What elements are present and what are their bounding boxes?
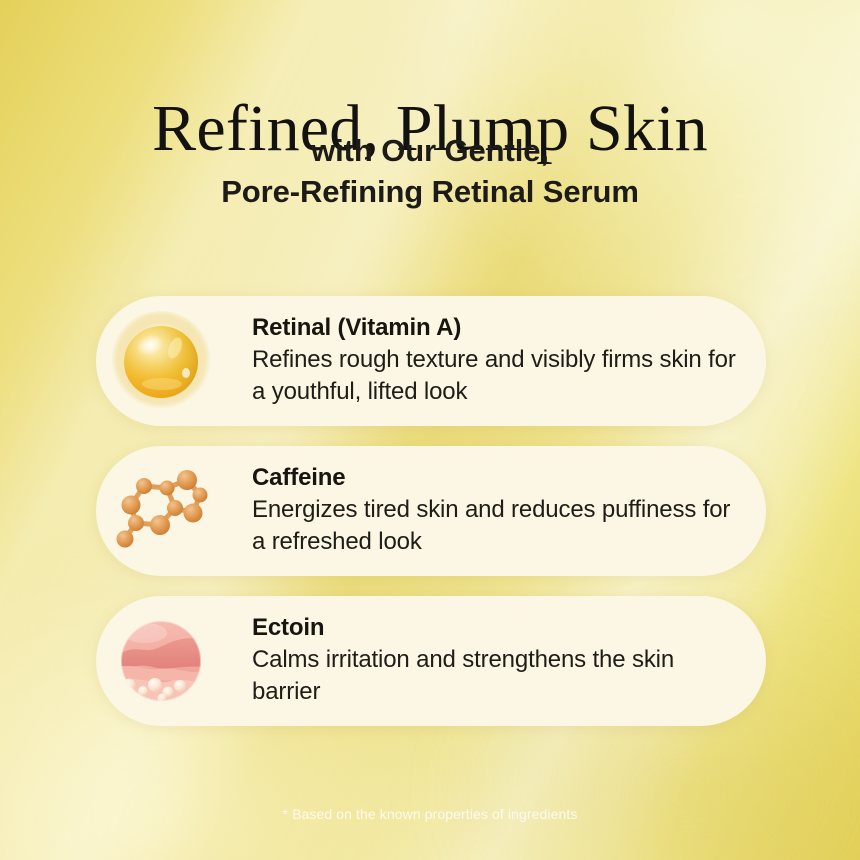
ingredient-card-text: Ectoin Calms irritation and strengthens … — [220, 613, 766, 709]
ingredient-description: Energizes tired skin and reduces puffine… — [252, 494, 740, 559]
pink-skin-texture-icon — [102, 602, 220, 720]
ingredient-title: Ectoin — [252, 613, 740, 642]
ingredient-card-list: Retinal (Vitamin A) Refines rough textur… — [96, 296, 766, 726]
ingredient-title: Caffeine — [252, 463, 740, 492]
golden-serum-droplet-icon — [102, 302, 220, 420]
poster-content: Refined, Plump Skin with Our Gentle, Por… — [0, 0, 860, 860]
page-subtitle-line-1: with Our Gentle, — [0, 130, 860, 171]
ingredient-card-text: Retinal (Vitamin A) Refines rough textur… — [220, 313, 766, 409]
ingredient-card-ectoin: Ectoin Calms irritation and strengthens … — [96, 596, 766, 726]
ingredient-card-retinal: Retinal (Vitamin A) Refines rough textur… — [96, 296, 766, 426]
ingredient-title: Retinal (Vitamin A) — [252, 313, 740, 342]
ingredient-description: Calms irritation and strengthens the ski… — [252, 644, 740, 709]
page-subtitle-line-2: Pore-Refining Retinal Serum — [0, 171, 860, 212]
footnote-disclaimer: * Based on the known properties of ingre… — [0, 806, 860, 822]
ingredient-card-caffeine: Caffeine Energizes tired skin and reduce… — [96, 446, 766, 576]
ingredient-infographic-poster: Refined, Plump Skin with Our Gentle, Por… — [0, 0, 860, 860]
ingredient-description: Refines rough texture and visibly firms … — [252, 344, 740, 409]
caffeine-molecule-icon — [102, 452, 220, 570]
page-subtitle: with Our Gentle, Pore-Refining Retinal S… — [0, 130, 860, 212]
ingredient-card-text: Caffeine Energizes tired skin and reduce… — [220, 463, 766, 559]
